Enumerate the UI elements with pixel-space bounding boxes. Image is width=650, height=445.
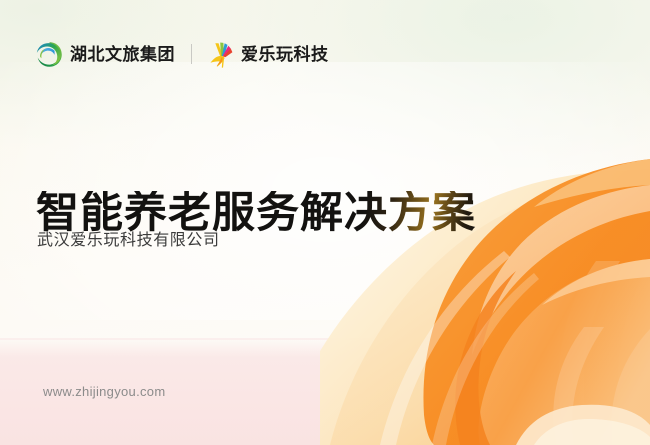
logo-divider [191,44,192,64]
ailewan-name: 爱乐玩科技 [241,46,329,63]
partner-logo-ailewan: 爱乐玩科技 [208,40,329,68]
footer-website-url: www.zhijingyou.com [43,384,165,399]
company-subtitle: 武汉爱乐玩科技有限公司 [37,226,220,250]
hubei-group-name: 湖北文旅集团 [70,46,175,63]
ailewan-bird-fan-icon [208,40,234,68]
presentation-cover-slide: 湖北文旅集团 爱乐玩科技 [0,0,650,445]
orange-ribbon-petals-decoration [320,115,650,445]
partner-logo-hubei: 湖北文旅集团 [36,41,175,68]
hubei-group-swirl-icon [36,41,63,68]
partner-logo-row: 湖北文旅集团 爱乐玩科技 [36,38,329,70]
